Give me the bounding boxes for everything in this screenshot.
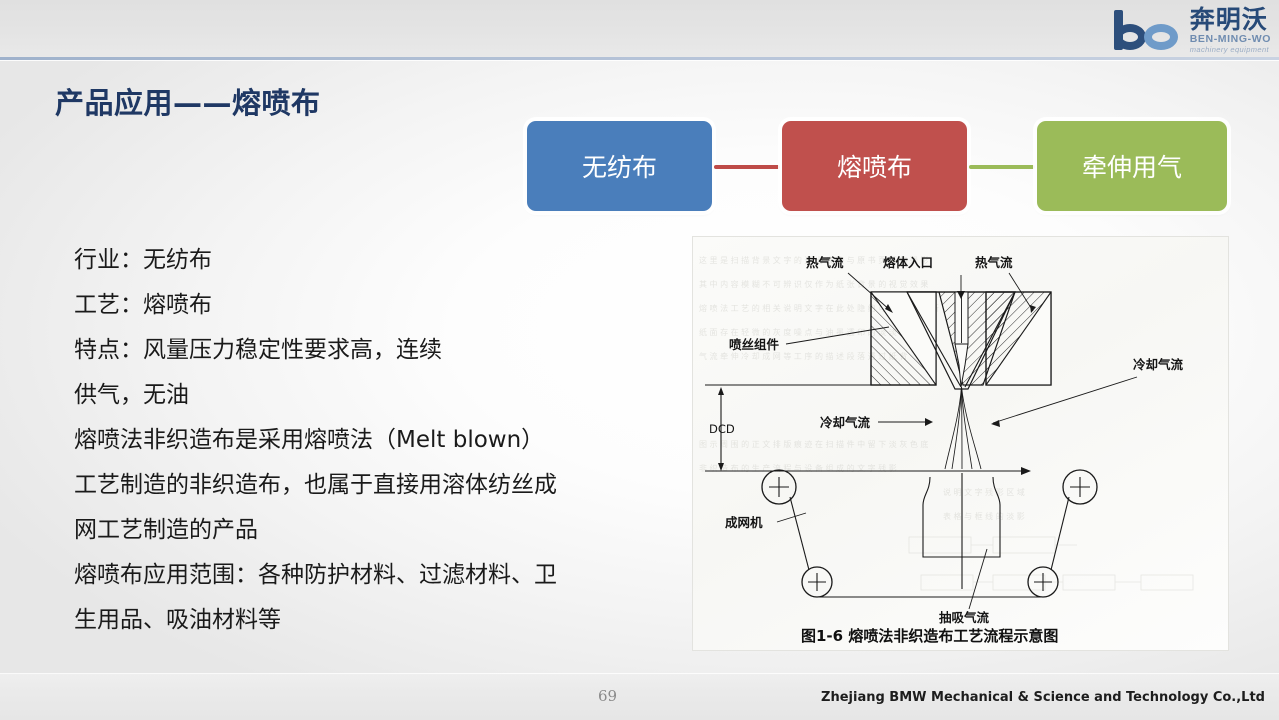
svg-text:图 示 周 围 的 正 文 排 版 痕 迹 在 扫 描 件: 图 示 周 围 的 正 文 排 版 痕 迹 在 扫 描 件 中 留 下 淡 灰 …	[699, 439, 928, 449]
bo-rings-logo-icon	[1110, 10, 1186, 50]
body-line-5: 熔喷法非织造布是采用熔喷法（Melt blown）	[74, 418, 674, 463]
svg-text:说 明 文 字 残 影 区 域: 说 明 文 字 残 影 区 域	[943, 487, 1025, 497]
label-melt-inlet: 熔体入口	[883, 255, 933, 270]
flow-connector-1	[714, 165, 780, 169]
logo-tagline: machinery equipment	[1190, 45, 1269, 54]
fiber-stream	[945, 387, 981, 469]
flow-box-meltblown[interactable]: 熔喷布	[782, 121, 967, 211]
company-name: Zhejiang BMW Mechanical & Science and Te…	[821, 690, 1265, 705]
label-spinneret: 喷丝组件	[729, 337, 780, 352]
svg-text:其 中 内 容 模 糊 不 可 辨 识 仅 作 为 纸 张: 其 中 内 容 模 糊 不 可 辨 识 仅 作 为 纸 张 背 景 的 视 觉 …	[699, 279, 928, 289]
body-line-7: 网工艺制造的产品	[74, 508, 674, 553]
body-line-4: 供气，无油	[74, 373, 674, 418]
flow-box-nonwoven[interactable]: 无纺布	[527, 121, 712, 211]
diagram-caption: 图1-6 熔喷法非织造布工艺流程示意图	[801, 627, 1058, 645]
logo-brand-en: BEN-MING-WO	[1190, 33, 1271, 45]
label-suction-air: 抽吸气流	[939, 610, 990, 625]
svg-text:表 格 与 框 线 的 淡 影: 表 格 与 框 线 的 淡 影	[943, 511, 1025, 521]
page-title: 产品应用——熔喷布	[55, 80, 321, 122]
process-flow: 无纺布 熔喷布 牵伸用气	[527, 121, 1227, 213]
body-line-1: 行业：无纺布	[74, 238, 674, 283]
body-line-6: 工艺制造的非织造布，也属于直接用溶体纺丝成	[74, 463, 674, 508]
label-cooling-air-right: 冷却气流	[1133, 357, 1184, 372]
die-assembly	[871, 292, 1051, 389]
company-logo: 奔明沃 BEN-MING-WO machinery equipment	[1059, 4, 1271, 56]
body-line-2: 工艺：熔喷布	[74, 283, 674, 328]
label-cooling-air-center: 冷却气流	[820, 415, 871, 430]
label-hot-air-left: 热气流	[806, 255, 844, 270]
logo-brand-cn: 奔明沃	[1190, 7, 1268, 33]
body-line-9: 生用品、吸油材料等	[74, 598, 674, 643]
slide-canvas: 奔明沃 BEN-MING-WO machinery equipment 产品应用…	[0, 0, 1279, 720]
flow-connector-2	[969, 165, 1035, 169]
svg-text:DCD: DCD	[709, 422, 735, 436]
flow-box-drawing-air[interactable]: 牵伸用气	[1037, 121, 1227, 211]
footer-band: 69 Zhejiang BMW Mechanical & Science and…	[0, 674, 1279, 720]
label-hot-air-right: 热气流	[975, 255, 1013, 270]
body-line-8: 熔喷布应用范围：各种防护材料、过滤材料、卫	[74, 553, 674, 598]
label-web-former: 成网机	[725, 515, 763, 530]
page-number: 69	[598, 687, 617, 705]
forming-belt	[705, 467, 1097, 597]
body-line-3: 特点：风量压力稳定性要求高，连续	[74, 328, 674, 373]
meltblown-process-diagram-image: 这 里 是 扫 描 背 景 文 字 的 透 出 痕 迹 与 原 书 页 面 的 …	[692, 236, 1229, 651]
body-text-block: 行业：无纺布 工艺：熔喷布 特点：风量压力稳定性要求高，连续 供气，无油 熔喷法…	[74, 238, 674, 643]
header-divider-highlight	[0, 60, 1279, 61]
logo-text-block: 奔明沃 BEN-MING-WO machinery equipment	[1190, 7, 1271, 54]
